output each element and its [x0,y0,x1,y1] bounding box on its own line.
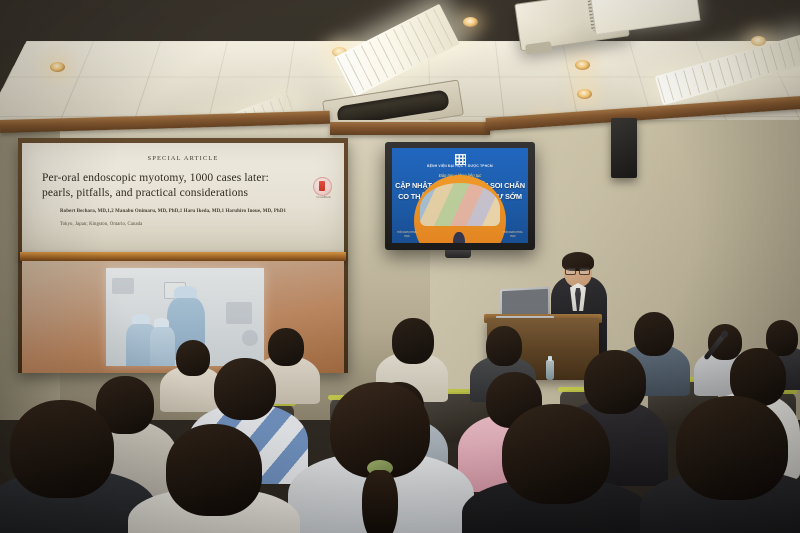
crown-molding [330,122,490,135]
crossmark-logo-icon [313,177,332,196]
crossmark-label: CrossMark [310,195,337,199]
photo-collage [420,183,499,225]
projector-mount-panel [589,0,700,35]
or-equipment [242,330,258,346]
tv-badge-left: HỘI NGHỊ KHOA HỌC [396,231,418,238]
attendee-head [634,312,674,356]
center-emblem-icon [453,232,465,243]
attendee-head [676,396,788,500]
slide-title: Per-oral endoscopic myotomy, 1000 cases … [42,171,302,201]
attendee-head [10,400,114,498]
attendee-head [392,318,434,364]
attendee-head [214,358,276,420]
or-equipment [226,302,252,324]
attendee-head [502,404,610,504]
slide-affiliations: Tokyo, Japan; Kingston, Ontario, Canada [60,222,296,227]
attendee-head [166,424,262,516]
eyeglasses-icon [565,267,590,273]
tv-mount [445,250,471,258]
conference-hall-photo: SPECIAL ARTICLE Per-oral endoscopic myot… [0,0,800,533]
ceiling-downlight-icon [50,62,65,72]
surgeon-figure [150,327,175,366]
attendee-head [584,350,646,414]
water-bottle [546,360,554,380]
slide-kicker: SPECIAL ARTICLE [22,155,344,162]
tv-badge-right: HỘI NGHỊ KHOA HỌC [502,231,524,238]
attendee-head [486,326,522,366]
slide-authors: Robert Bechara, MD,1,2 Manabu Onimaru, M… [60,209,296,214]
attendee-head [176,340,210,376]
or-equipment [112,278,134,294]
projection-screen-slide: SPECIAL ARTICLE Per-oral endoscopic myot… [22,143,344,253]
attendee-head [268,328,304,366]
ceiling-downlight-icon [577,89,592,99]
ceiling-downlight-icon [575,60,590,70]
screen-ledge [20,252,346,261]
wall-mounted-speaker [611,118,637,178]
tv-organization: BỆNH VIỆN ĐẠI HỌC Y DƯỢC TPHCM [392,164,528,168]
ponytail [362,470,398,533]
tv-slide: BỆNH VIỆN ĐẠI HỌC Y DƯỢC TPHCM Đào tạo y… [392,148,528,243]
ceiling-downlight-icon [463,17,478,27]
